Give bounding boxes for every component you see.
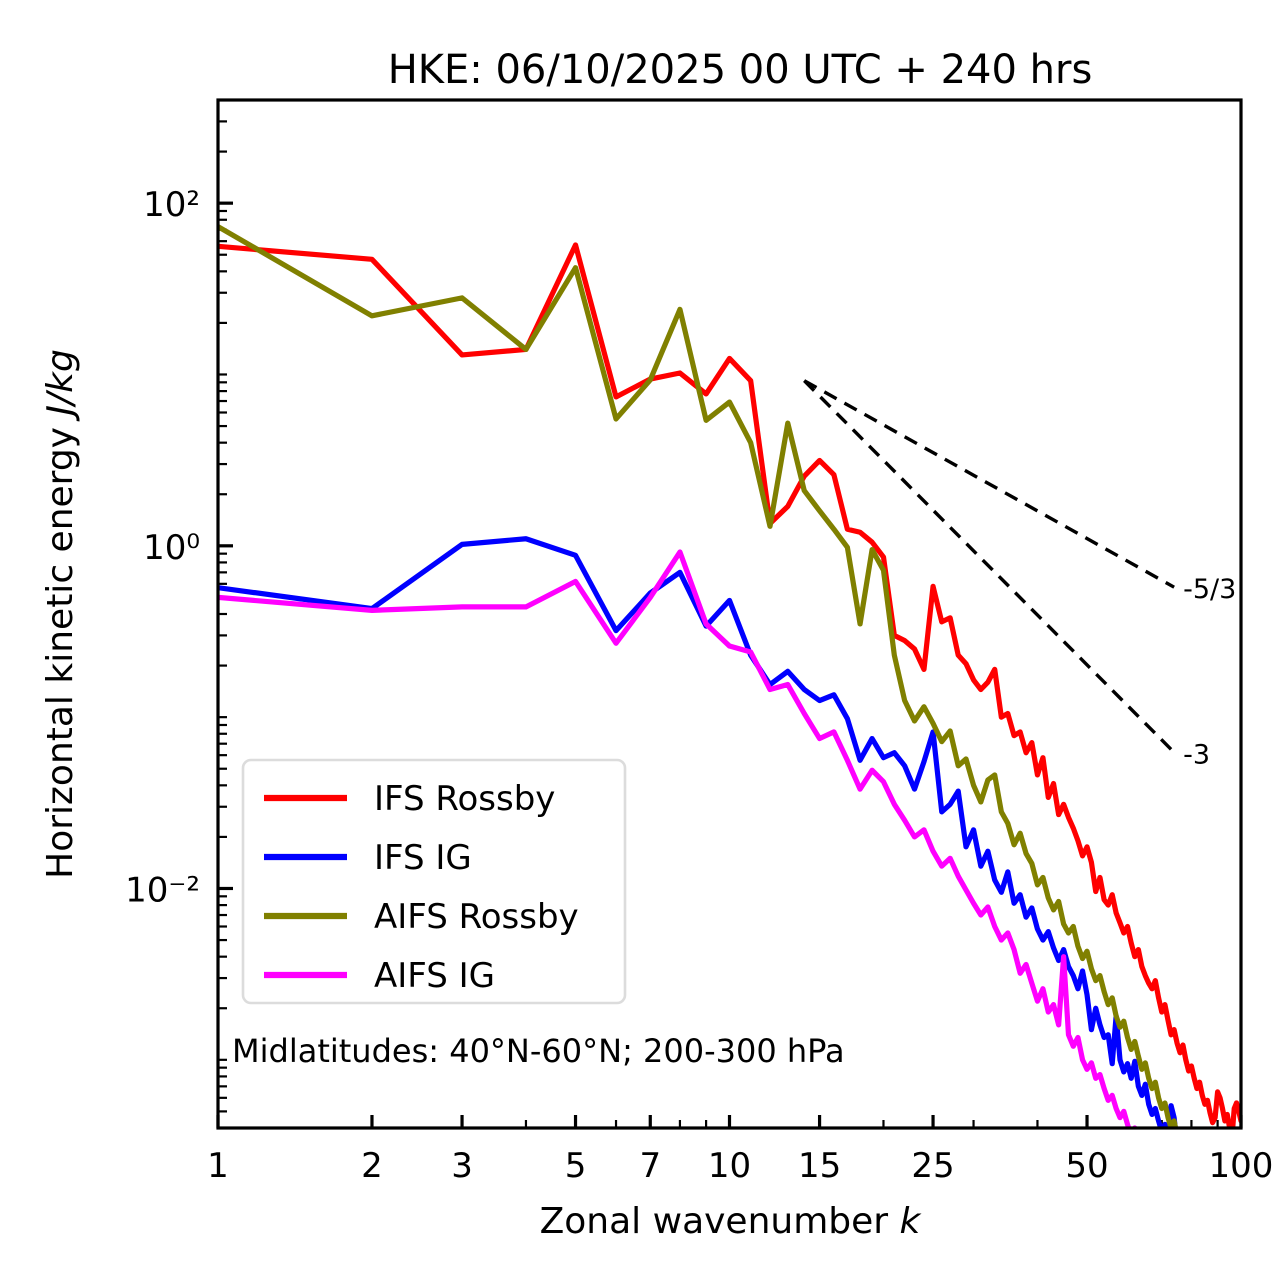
x-tick-label: 2 [361, 1146, 383, 1186]
x-axis-label: Zonal wavenumber k [540, 1201, 923, 1242]
y-axis-label-italic: J/kg [40, 349, 81, 421]
x-tick-label: 7 [639, 1146, 661, 1186]
legend[interactable]: IFS RossbyIFS IGAIFS RossbyAIFS IG [243, 760, 625, 1003]
x-tick-label: 10 [708, 1146, 751, 1186]
svg-text:Horizontal kinetic energy J/kg: Horizontal kinetic energy J/kg [40, 349, 81, 879]
x-tick-label: 3 [451, 1146, 473, 1186]
chart-title: HKE: 06/10/2025 00 UTC + 240 hrs [388, 47, 1093, 93]
y-axis-label-plain: Horizontal kinetic energy [40, 416, 81, 879]
x-tick-label: 25 [911, 1146, 954, 1186]
x-tick-label: 15 [798, 1146, 841, 1186]
slope-label--5-3: -5/3 [1183, 574, 1236, 605]
x-tick-label: 5 [565, 1146, 587, 1186]
y-tick-label: 10⁰ [143, 528, 200, 568]
legend-label-ifs-ig: IFS IG [374, 838, 472, 878]
legend-label-ifs-rossby: IFS Rossby [374, 779, 555, 819]
x-axis-label-plain: Zonal wavenumber [540, 1201, 900, 1242]
x-axis-label-italic: k [900, 1201, 923, 1242]
legend-label-aifs-rossby: AIFS Rossby [374, 897, 579, 937]
x-tick-label: 100 [1209, 1146, 1274, 1186]
region-annotation: Midlatitudes: 40°N-60°N; 200-300 hPa [232, 1032, 845, 1070]
slope-label--3: -3 [1183, 739, 1210, 770]
chart-page: HKE: 06/10/2025 00 UTC + 240 hrs Horizon… [0, 0, 1280, 1288]
y-tick-label: 10⁻² [125, 870, 200, 910]
x-tick-label: 1 [207, 1146, 229, 1186]
y-tick-label: 10² [143, 185, 200, 225]
legend-label-aifs-ig: AIFS IG [374, 956, 495, 996]
x-tick-label: 50 [1065, 1146, 1108, 1186]
y-axis-label: Horizontal kinetic energy J/kg [40, 349, 81, 879]
hke-spectrum-figure: HKE: 06/10/2025 00 UTC + 240 hrs Horizon… [0, 0, 1280, 1288]
